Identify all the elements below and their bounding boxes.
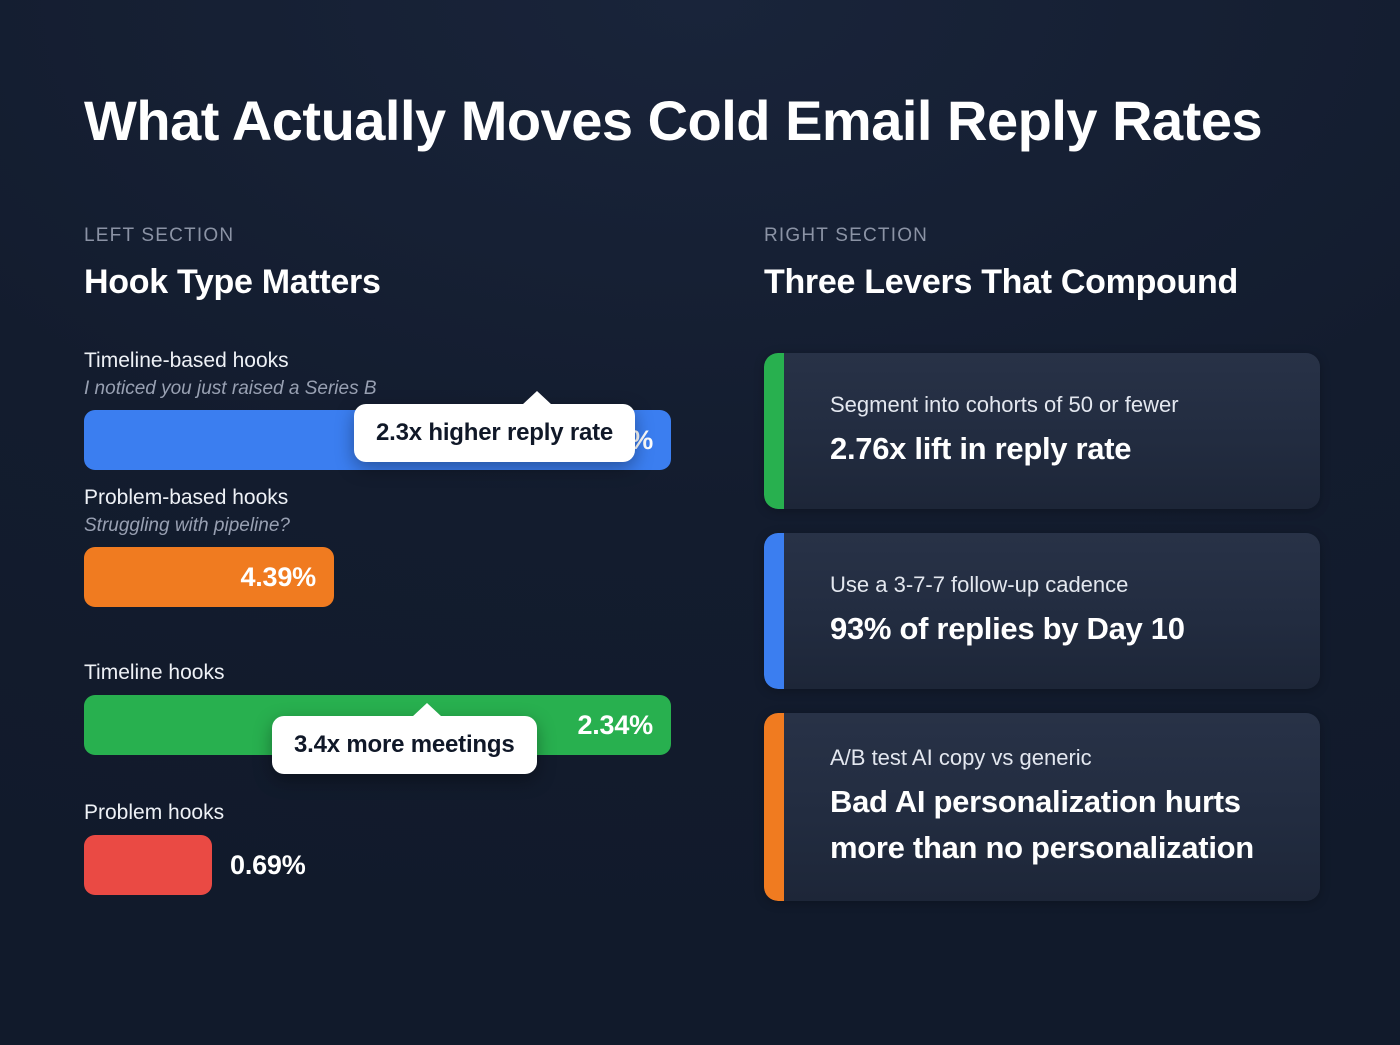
left-eyebrow: LEFT SECTION — [84, 224, 684, 248]
bar-example-text: Struggling with pipeline? — [84, 513, 684, 539]
accent-bar-icon — [764, 533, 784, 689]
bar-value-label: 4.39% — [240, 562, 334, 593]
bar-value-label: 2.34% — [577, 710, 671, 741]
bar-group: Timeline hooks 2.34% Problem hooks 0.69%… — [84, 659, 684, 895]
left-section: LEFT SECTION Hook Type Matters Timeline-… — [84, 224, 684, 895]
bar-row: Problem hooks 0.69% — [84, 799, 684, 895]
left-section-title: Hook Type Matters — [84, 261, 684, 303]
bar-fill — [84, 835, 212, 895]
right-eyebrow: RIGHT SECTION — [764, 224, 1320, 248]
accent-bar-icon — [764, 353, 784, 509]
bar-track: 4.39% — [84, 547, 684, 607]
callout-tooltip: 2.3x higher reply rate — [354, 404, 635, 462]
right-section-title: Three Levers That Compound — [764, 261, 1320, 303]
callout-tooltip: 3.4x more meetings — [272, 716, 537, 774]
bar-value-label: 0.69% — [230, 835, 306, 895]
lever-card-list: Segment into cohorts of 50 or fewer 2.76… — [764, 353, 1320, 901]
lever-card[interactable]: A/B test AI copy vs generic Bad AI perso… — [764, 713, 1320, 901]
lever-kicker: A/B test AI copy vs generic — [830, 743, 1286, 773]
accent-bar-icon — [764, 713, 784, 901]
bar-fill: 4.39% — [84, 547, 334, 607]
bar-group: Timeline-based hooks I noticed you just … — [84, 347, 684, 607]
lever-card[interactable]: Segment into cohorts of 50 or fewer 2.76… — [764, 353, 1320, 509]
bar-track: 0.69% — [84, 835, 684, 895]
infographic-canvas: What Actually Moves Cold Email Reply Rat… — [0, 0, 1400, 1045]
lever-headline: Bad AI personalization hurts more than n… — [830, 779, 1286, 871]
bar-category-label: Problem-based hooks — [84, 484, 684, 512]
lever-headline: 93% of replies by Day 10 — [830, 606, 1286, 652]
lever-kicker: Segment into cohorts of 50 or fewer — [830, 390, 1286, 420]
bar-row: Problem-based hooks Struggling with pipe… — [84, 484, 684, 607]
lever-card[interactable]: Use a 3-7-7 follow-up cadence 93% of rep… — [764, 533, 1320, 689]
bar-example-text: I noticed you just raised a Series B — [84, 376, 684, 402]
lever-headline: 2.76x lift in reply rate — [830, 426, 1286, 472]
bar-category-label: Timeline hooks — [84, 659, 684, 687]
lever-kicker: Use a 3-7-7 follow-up cadence — [830, 570, 1286, 600]
page-title: What Actually Moves Cold Email Reply Rat… — [84, 88, 1324, 154]
bar-category-label: Timeline-based hooks — [84, 347, 684, 375]
right-section: RIGHT SECTION Three Levers That Compound… — [764, 224, 1320, 901]
bar-category-label: Problem hooks — [84, 799, 684, 827]
